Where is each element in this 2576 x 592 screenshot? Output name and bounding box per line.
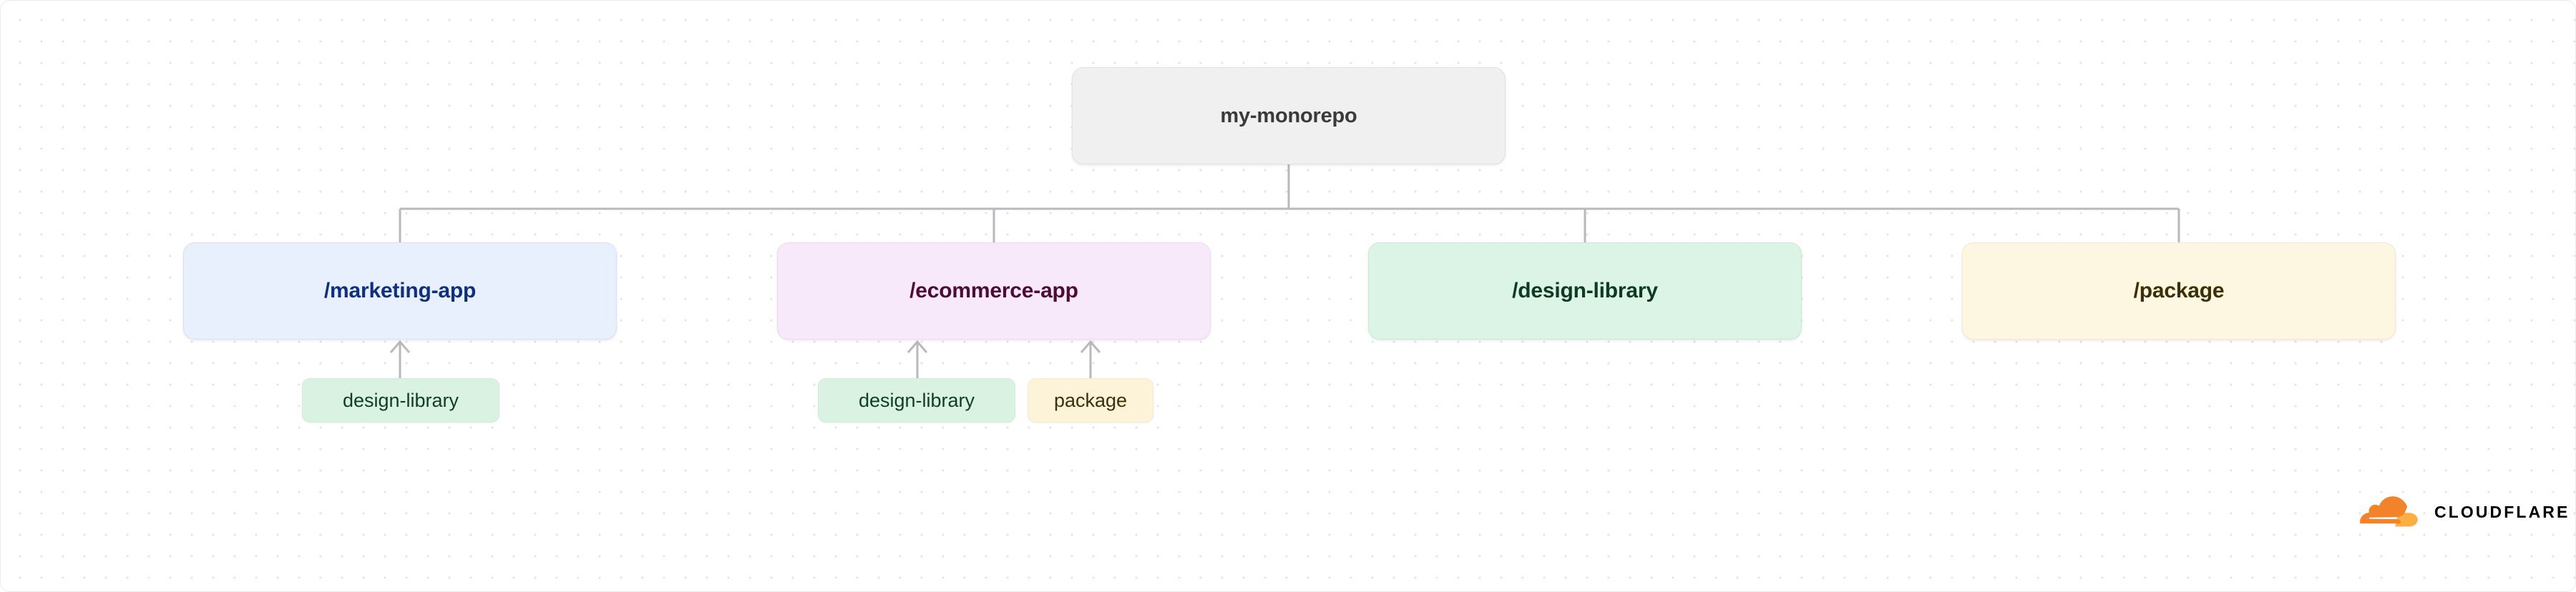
workspace-node-package[interactable]: /package: [1962, 242, 2396, 340]
connector-arrowhead-icon: [391, 342, 409, 352]
workspace-node-label: /package: [2134, 280, 2225, 302]
root-node-label: my-monorepo: [1220, 106, 1357, 127]
dependency-pill[interactable]: design-library: [302, 378, 499, 423]
workspace-node-ecommerce-app[interactable]: /ecommerce-app: [777, 242, 1211, 340]
cloudflare-cloud-icon: [2358, 496, 2424, 528]
connector-arrowhead-icon: [908, 342, 927, 352]
workspace-node-marketing-app[interactable]: /marketing-app: [183, 242, 617, 340]
workspace-node-label: /marketing-app: [324, 280, 476, 302]
dependency-pill-label: design-library: [859, 391, 975, 410]
dependency-pill[interactable]: package: [1028, 378, 1153, 423]
diagram-canvas: my-monorepo/marketing-appdesign-library/…: [0, 0, 2576, 592]
connector-arrowhead-icon: [1081, 342, 1100, 352]
root-node-my-monorepo[interactable]: my-monorepo: [1072, 67, 1506, 164]
dependency-pill-label: design-library: [343, 391, 459, 410]
workspace-node-label: /ecommerce-app: [909, 280, 1078, 302]
dependency-pill[interactable]: design-library: [818, 378, 1015, 423]
workspace-node-design-library[interactable]: /design-library: [1368, 242, 1802, 340]
workspace-node-label: /design-library: [1512, 280, 1658, 302]
cloudflare-wordmark: CLOUDFLARE: [2434, 504, 2570, 521]
cloudflare-logo: CLOUDFLARE: [2358, 496, 2570, 528]
dependency-pill-label: package: [1054, 391, 1127, 410]
